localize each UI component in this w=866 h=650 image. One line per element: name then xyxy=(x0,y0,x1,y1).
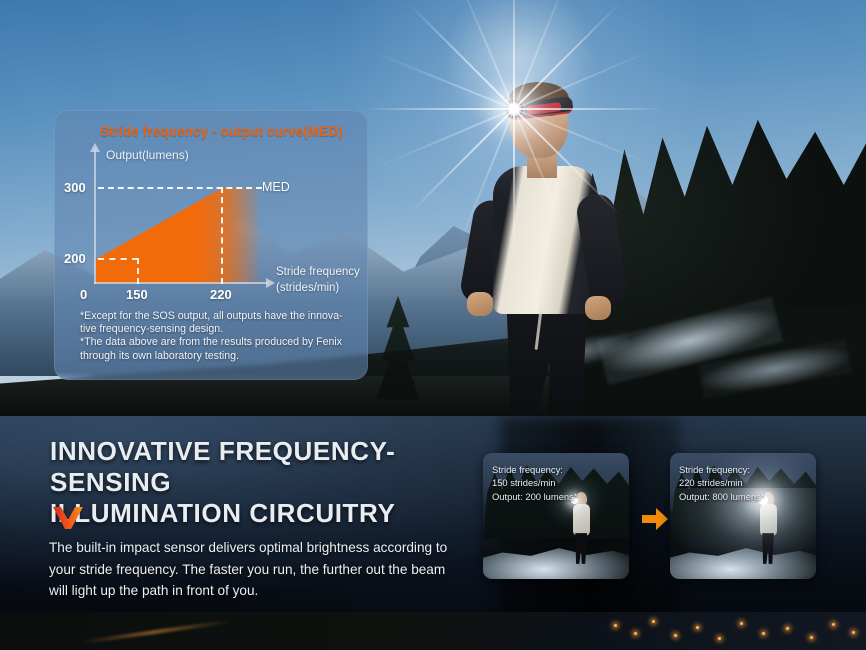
gridline-220 xyxy=(221,187,223,284)
caption-line-1: Stride frequency: xyxy=(679,463,811,476)
runner-legs xyxy=(761,533,776,564)
runner-legs xyxy=(499,306,595,416)
caption-line-3: Output: 800 lumens* xyxy=(679,490,811,503)
feature-body-text: The built-in impact sensor delivers opti… xyxy=(49,537,449,602)
footnote-line: tive frequency-sensing design. xyxy=(80,323,352,336)
light-ray xyxy=(513,109,515,259)
x-tick-150: 150 xyxy=(126,287,148,302)
gridline-300 xyxy=(98,187,262,189)
x-axis-label-line1: Stride frequency xyxy=(276,266,360,278)
light-ray xyxy=(514,108,664,110)
chart-footnotes: *Except for the SOS output, all outputs … xyxy=(80,310,352,363)
light-ray xyxy=(513,0,515,109)
headline-line-2: ILLUMINATION CIRCUITRY xyxy=(50,498,470,529)
y-axis-line xyxy=(94,150,96,284)
x-tick-0: 0 xyxy=(80,287,87,302)
comparison-card-low-cadence[interactable]: Stride frequency: 150 strides/min Output… xyxy=(483,453,629,579)
gridline-150 xyxy=(137,258,139,284)
chevron-down-icon xyxy=(52,506,84,530)
product-feature-page: Stride frequency - output curve(MED) xyxy=(0,0,866,650)
runner-torso xyxy=(760,504,777,536)
x-tick-220: 220 xyxy=(210,287,232,302)
footnote-line: *The data above are from the results pro… xyxy=(80,336,352,349)
footnote-line: *Except for the SOS output, all outputs … xyxy=(80,310,352,323)
comparison-caption: Stride frequency: 220 strides/min Output… xyxy=(679,463,811,503)
runner-legs xyxy=(574,533,589,564)
caption-line-1: Stride frequency: xyxy=(492,463,624,476)
comparison-caption: Stride frequency: 150 strides/min Output… xyxy=(492,463,624,503)
light-ray xyxy=(364,108,514,110)
comparison-card-high-cadence[interactable]: Stride frequency: 220 strides/min Output… xyxy=(670,453,816,579)
runner-hand-left xyxy=(467,292,493,316)
headlamp-beam-icon xyxy=(505,100,523,118)
runner-figure xyxy=(455,60,675,416)
hero-photo: Stride frequency - output curve(MED) xyxy=(0,0,866,416)
arrow-right-icon xyxy=(641,506,669,532)
page-title: INNOVATIVE FREQUENCY-SENSING ILLUMINATIO… xyxy=(50,436,470,529)
series-label-med: MED xyxy=(262,180,290,194)
y-tick-200: 200 xyxy=(64,251,86,266)
runner-hand-right xyxy=(585,296,611,320)
x-axis-label-line2: (strides/min) xyxy=(276,282,339,294)
gridline-200 xyxy=(98,258,138,260)
x-axis-line xyxy=(94,282,268,284)
headline-line-1: INNOVATIVE FREQUENCY-SENSING xyxy=(50,436,470,498)
y-axis-label: Output(lumens) xyxy=(106,148,189,162)
x-axis-arrow-icon xyxy=(266,278,275,288)
runner-torso xyxy=(573,504,590,536)
stride-frequency-chart-panel: Stride frequency - output curve(MED) xyxy=(54,110,368,380)
y-tick-300: 300 xyxy=(64,180,86,195)
city-lights xyxy=(600,612,866,650)
footnote-line: through its own laboratory testing. xyxy=(80,350,352,363)
caption-line-2: 220 strides/min xyxy=(679,476,811,489)
caption-line-3: Output: 200 lumens* xyxy=(492,490,624,503)
caption-line-2: 150 strides/min xyxy=(492,476,624,489)
